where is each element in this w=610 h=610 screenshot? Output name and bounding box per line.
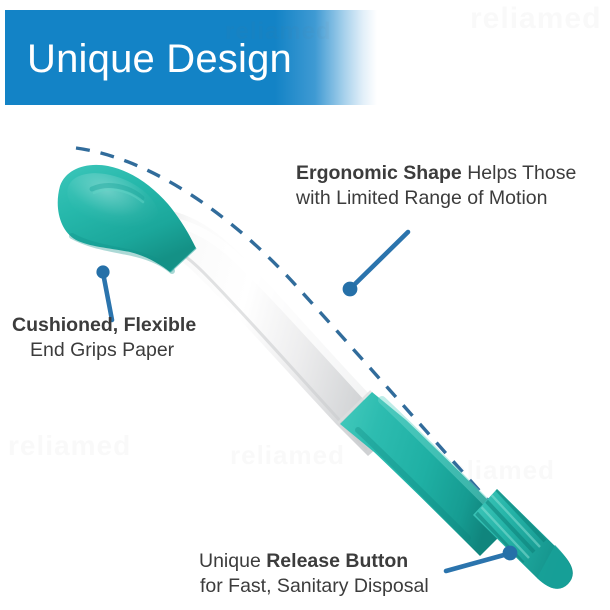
callout-ergonomic-bold: Ergonomic Shape [296,162,462,184]
product-illustration [0,0,610,610]
pointer-line-ergonomic [343,232,408,296]
callout-cushioned-line2: End Grips Paper [12,338,196,363]
callout-ergonomic-regular: Helps Those [462,162,577,184]
callout-release-button: Unique Release Button for Fast, Sanitary… [199,549,429,599]
callout-release-line2: for Fast, Sanitary Disposal [199,574,429,599]
callout-cushioned-flexible: Cushioned, Flexible End Grips Paper [12,313,196,363]
callout-release-prefix: Unique [199,550,266,572]
callout-release-bold: Release Button [266,550,408,572]
pointer-line-cushioned [96,265,112,320]
teal-lower-handle [340,392,512,556]
callout-ergonomic-line2: with Limited Range of Motion [296,186,576,211]
callout-ergonomic-shape: Ergonomic Shape Helps Those with Limited… [296,161,576,211]
callout-cushioned-bold: Cushioned, Flexible [12,314,196,336]
infographic-page: Unique Design reliamed reliamed reliamed… [0,0,610,610]
cushioned-teal-head [58,161,196,272]
